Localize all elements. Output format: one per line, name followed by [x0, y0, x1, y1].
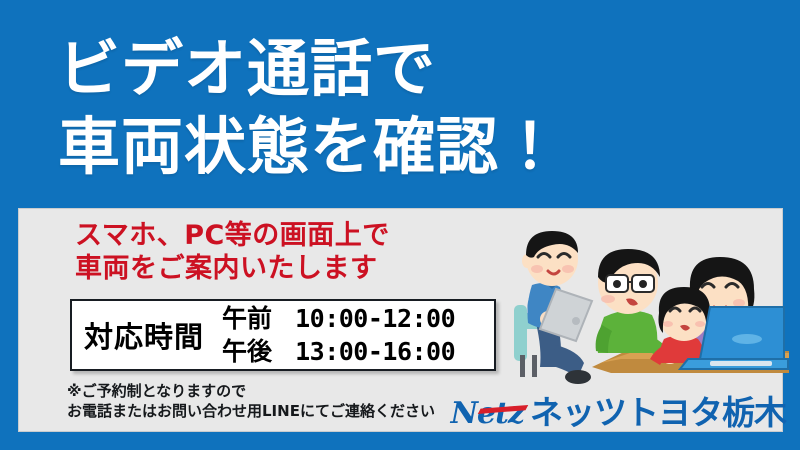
hours-row: 午後 13:00-16:00 [222, 335, 455, 368]
salesman-cheek [531, 265, 543, 273]
people-illustration [504, 227, 789, 399]
father-cheek [601, 295, 615, 303]
lead-line-1: スマホ、PC等の画面上で [75, 219, 390, 252]
hours-period-afternoon: 午後 [222, 337, 272, 366]
hours-rows: 午前 10:00-12:00 午後 13:00-16:00 [204, 302, 455, 369]
chair-leg [520, 355, 525, 377]
headline-line-2: 車両状態を確認！ [58, 116, 562, 178]
hours-box: 対応時間 午前 10:00-12:00 午後 13:00-16:00 [70, 299, 496, 371]
girl-cheek [695, 321, 705, 327]
footnote: ※ご予約制となりますので お電話またはお問い合わせ用LINEにてご連絡ください [67, 381, 435, 422]
laptop-screen-glare [732, 334, 762, 344]
laptop-screen [700, 307, 784, 359]
dealer-logo: Netz ネッツトヨタ栃木 [451, 396, 786, 429]
hours-time-morning: 10:00-12:00 [295, 304, 455, 333]
salesman-cheek [562, 265, 574, 273]
mother-cheek [733, 299, 745, 307]
netz-wordmark-text: Netz [451, 396, 524, 431]
salesman-shoe [565, 370, 591, 384]
girl-cheek [663, 321, 673, 327]
lead-line-2: 車両をご案内いたします [75, 252, 390, 285]
info-panel: スマホ、PC等の画面上で 車両をご案内いたします 対応時間 午前 10:00-1… [18, 208, 783, 432]
netz-wordmark: Netz [451, 399, 524, 429]
footnote-line-1: ※ご予約制となりますので [67, 381, 435, 401]
chair-leg [532, 355, 537, 377]
dealer-name-jp: ネッツトヨタ栃木 [530, 396, 786, 429]
headline-line-1: ビデオ通話で [58, 38, 436, 100]
promo-banner: ビデオ通話で 車両状態を確認！ スマホ、PC等の画面上で 車両をご案内いたします… [0, 0, 800, 450]
laptop-touchpad [710, 361, 772, 366]
illustration-svg [504, 227, 789, 399]
footnote-line-2: お電話またはお問い合わせ用LINEにてご連絡ください [67, 401, 435, 421]
hours-period-morning: 午前 [222, 304, 272, 333]
illustration-group [514, 231, 789, 384]
lead-copy: スマホ、PC等の画面上で 車両をご案内いたします [75, 219, 390, 286]
headline-block: ビデオ通話で 車両状態を確認！ [0, 0, 800, 208]
hours-label: 対応時間 [72, 314, 204, 356]
salesman-figure [514, 231, 592, 384]
hours-row: 午前 10:00-12:00 [222, 302, 455, 335]
hours-time-afternoon: 13:00-16:00 [295, 337, 455, 366]
